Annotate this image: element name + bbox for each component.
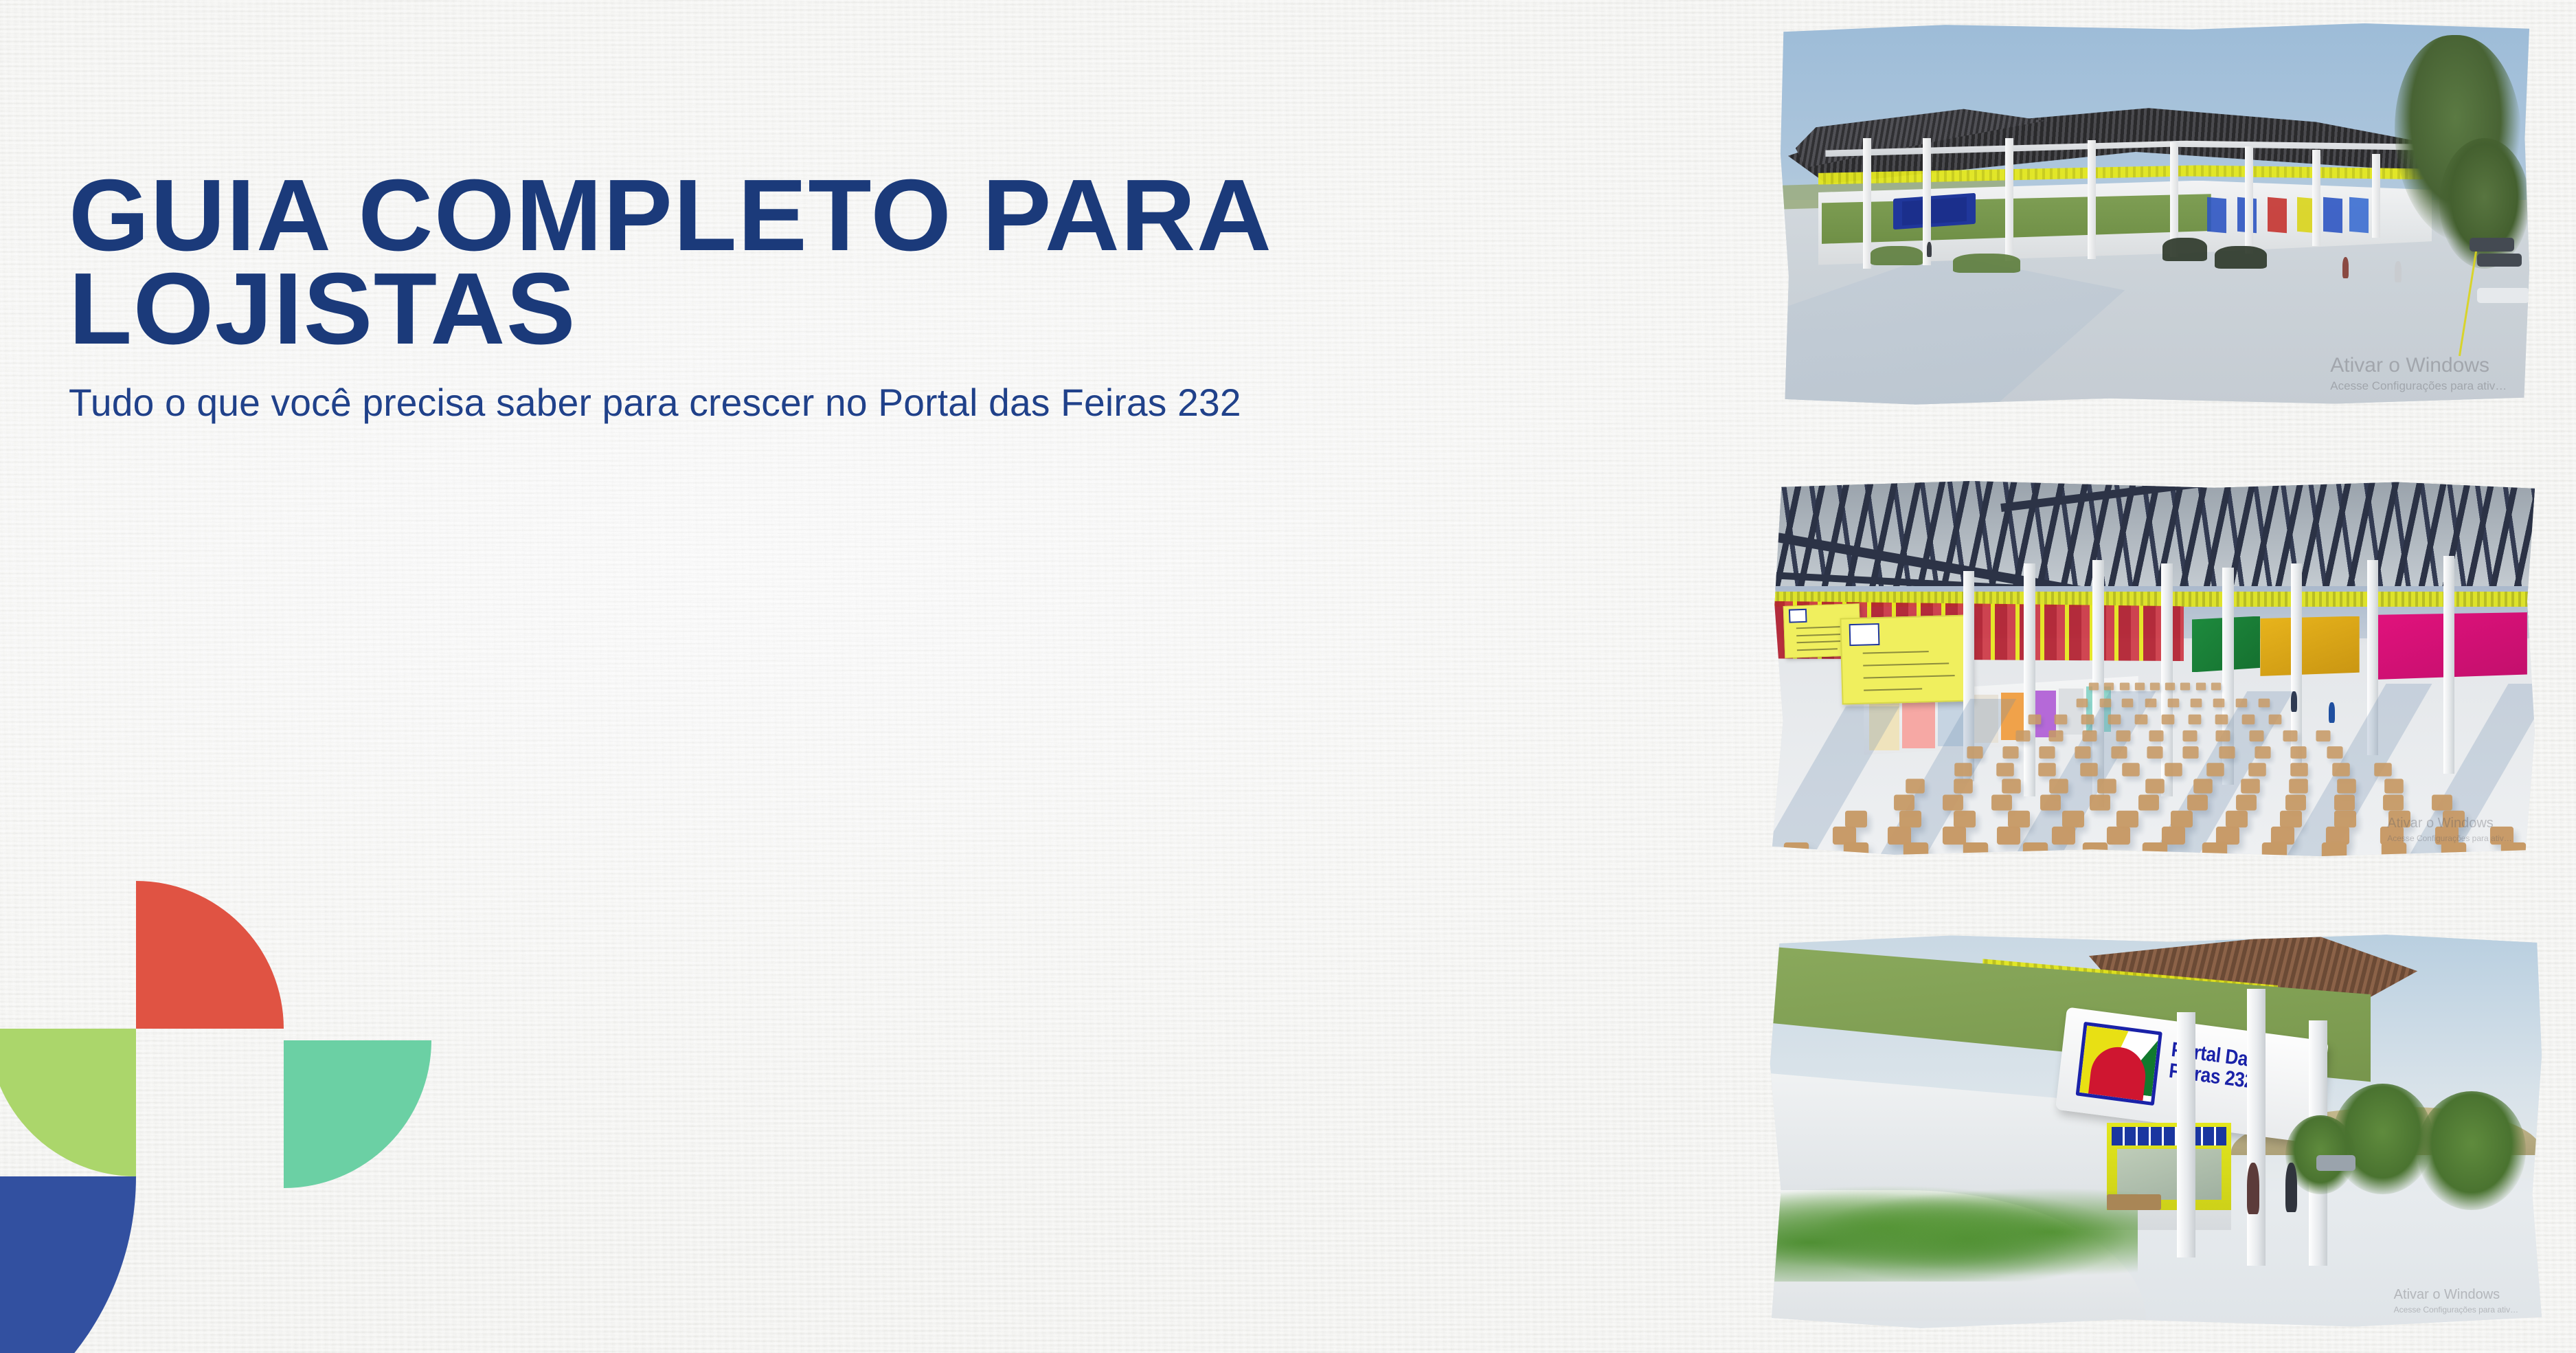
dining-table xyxy=(2283,730,2297,741)
brand-quarter-blue-icon xyxy=(0,1176,136,1353)
dining-table xyxy=(2052,826,2075,844)
dining-table xyxy=(2039,747,2055,759)
facade-column xyxy=(2005,138,2013,261)
dining-table xyxy=(1967,747,1982,759)
stall-banner xyxy=(2268,197,2287,234)
dining-table xyxy=(1833,826,1856,844)
dining-table xyxy=(2216,730,2230,741)
photo-exterior-aerial: Ativar o Windows Acesse Configurações pa… xyxy=(1781,23,2529,407)
dining-table xyxy=(2145,699,2156,708)
photo-entrance-scene: Portal DasFeiras 232 xyxy=(1765,933,2542,1329)
dining-table xyxy=(2077,699,2088,708)
facade-column xyxy=(2088,140,2096,259)
dining-table xyxy=(2083,730,2097,741)
dining-table xyxy=(2147,747,2162,759)
dining-table xyxy=(2441,842,2465,856)
dining-table xyxy=(2182,730,2197,741)
dining-table xyxy=(2235,699,2247,708)
dining-table xyxy=(1954,810,1976,827)
wayfinding-line xyxy=(1796,626,1843,629)
dining-table xyxy=(2213,699,2224,708)
dining-table xyxy=(2116,810,2138,827)
wayfinding-line xyxy=(1797,648,1838,651)
shrub-row xyxy=(2162,238,2207,260)
dining-table xyxy=(2149,730,2164,741)
dining-table xyxy=(2435,826,2459,844)
interior-column xyxy=(2443,556,2455,774)
visitor xyxy=(2285,1163,2297,1212)
dining-table xyxy=(2083,842,2108,856)
dining-table xyxy=(2145,779,2165,793)
dining-table xyxy=(2385,779,2404,793)
dining-table xyxy=(2162,826,2185,844)
headline-block: GUIA COMPLETO PARA LOJISTAS Tudo o que v… xyxy=(69,169,1669,426)
dining-table xyxy=(2165,683,2175,691)
dining-table xyxy=(2097,779,2116,793)
dining-table xyxy=(2291,747,2307,759)
dining-table xyxy=(1899,810,1921,827)
dining-table xyxy=(2119,683,2129,691)
dining-table xyxy=(1844,842,1868,856)
dining-table xyxy=(1997,763,2014,776)
dining-table xyxy=(2135,683,2145,691)
dining-table xyxy=(2216,826,2239,844)
interior-column xyxy=(2161,563,2173,796)
brand-quarter-mint-icon xyxy=(284,1040,431,1188)
dining-table xyxy=(2388,810,2410,827)
portal-logo-icon xyxy=(2076,1022,2162,1106)
dining-table xyxy=(2500,842,2525,856)
visitor xyxy=(2247,1163,2259,1214)
dining-table xyxy=(1963,842,1988,856)
dining-table xyxy=(2443,810,2465,827)
dining-table xyxy=(2258,699,2270,708)
dining-table xyxy=(2189,715,2202,724)
photo-exterior-scene xyxy=(1781,23,2529,407)
dining-table xyxy=(2187,794,2208,810)
dining-table xyxy=(2334,794,2355,810)
dining-table xyxy=(2028,715,2041,724)
wayfinding-line xyxy=(1797,640,1846,644)
dining-table xyxy=(2269,715,2282,724)
dining-table xyxy=(2289,779,2308,793)
dining-table xyxy=(2327,747,2342,759)
dining-table xyxy=(2143,842,2167,856)
dining-table xyxy=(2202,842,2227,856)
dining-table xyxy=(2285,794,2306,810)
dining-table xyxy=(2326,826,2349,844)
facade-column xyxy=(2177,1012,2195,1257)
visitor xyxy=(2291,691,2297,712)
dining-table xyxy=(2062,810,2084,827)
parked-car xyxy=(2477,254,2522,267)
dining-table xyxy=(2138,794,2159,810)
dining-table xyxy=(2015,730,2030,741)
dining-table xyxy=(1943,794,1963,810)
dining-table xyxy=(2107,826,2130,844)
stall-banner xyxy=(2349,197,2369,234)
dining-table xyxy=(2374,763,2391,776)
parked-car xyxy=(2316,1155,2355,1171)
dining-table xyxy=(2337,779,2356,793)
wayfinding-logo-icon xyxy=(1788,609,1807,623)
planter-bed xyxy=(1871,246,1923,265)
dining-table xyxy=(2242,715,2255,724)
photo-interior-foodcourt: Ativar o Windows Acesse Configurações pa… xyxy=(1772,481,2535,856)
dining-table xyxy=(2383,794,2404,810)
dining-table xyxy=(2316,730,2331,741)
dining-table xyxy=(2122,699,2134,708)
bench xyxy=(2107,1194,2161,1210)
dining-table xyxy=(2195,683,2205,691)
dining-table xyxy=(2135,715,2148,724)
dining-table xyxy=(2334,810,2356,827)
dining-table xyxy=(1906,779,1925,793)
dining-table xyxy=(2003,747,2019,759)
dining-table xyxy=(2432,794,2452,810)
pedestrian xyxy=(2342,257,2349,278)
dining-table xyxy=(2108,715,2121,724)
dining-table xyxy=(2075,747,2091,759)
dining-table xyxy=(2167,699,2179,708)
pedestrian xyxy=(1927,242,1932,257)
dining-table xyxy=(1845,810,1867,827)
dining-table xyxy=(2215,715,2228,724)
interior-column xyxy=(2024,563,2035,796)
dining-table xyxy=(2150,683,2160,691)
dining-table xyxy=(2271,826,2294,844)
visitor xyxy=(2329,702,2335,723)
facade-logo-sign xyxy=(1893,193,1976,230)
dining-table xyxy=(2219,747,2235,759)
dining-table xyxy=(2081,763,2098,776)
shrub-row xyxy=(2215,246,2267,269)
dining-table xyxy=(2123,763,2140,776)
dining-table xyxy=(1997,826,2020,844)
dining-table xyxy=(2008,810,2030,827)
brand-mark-pinwheel xyxy=(0,881,443,1353)
dining-table xyxy=(2171,810,2193,827)
dining-table xyxy=(2248,763,2266,776)
photo-interior-scene xyxy=(1772,481,2535,856)
facade-column xyxy=(2247,989,2266,1266)
facade-column xyxy=(2312,150,2320,246)
dining-table xyxy=(2236,794,2257,810)
dining-table xyxy=(2162,715,2175,724)
dining-table xyxy=(2023,842,2048,856)
dining-table xyxy=(2116,730,2130,741)
wayfinding-line-pier xyxy=(1862,650,1928,653)
stall-banner xyxy=(2323,197,2342,234)
planter-bed xyxy=(1953,254,2020,273)
dining-table xyxy=(2111,747,2127,759)
palm-plantings xyxy=(1765,1178,2138,1282)
dining-table xyxy=(2089,683,2099,691)
dining-table xyxy=(2055,715,2068,724)
dining-table xyxy=(2249,730,2263,741)
dining-table xyxy=(2290,763,2307,776)
photo-entrance-facade: Portal DasFeiras 232 Ativar o Windows Ac… xyxy=(1765,933,2542,1329)
counter-panel xyxy=(1902,700,1935,748)
parked-car xyxy=(2477,288,2529,303)
stall-banner xyxy=(2207,197,2226,234)
steel-truss-ceiling xyxy=(1772,481,2535,594)
pedestrian xyxy=(2395,261,2402,282)
wayfinding-line-banheiros xyxy=(1863,662,1950,666)
dining-table xyxy=(2332,763,2349,776)
facade-logo-inner xyxy=(1902,197,1967,225)
dining-table xyxy=(1991,794,2012,810)
dining-table xyxy=(1894,794,1914,810)
facade-column xyxy=(2372,154,2380,238)
dining-table xyxy=(2049,730,2064,741)
dining-table xyxy=(2280,810,2302,827)
tree xyxy=(2417,1091,2526,1210)
brand-quarter-green-icon xyxy=(0,1029,136,1176)
wayfinding-line-lojas xyxy=(1864,688,1922,691)
facade-column xyxy=(1863,138,1871,269)
slide-canvas: GUIA COMPLETO PARA LOJISTAS Tudo o que v… xyxy=(0,0,2576,1353)
page-title: GUIA COMPLETO PARA LOJISTAS xyxy=(69,169,1702,356)
dining-table xyxy=(2180,683,2190,691)
dining-table xyxy=(2165,763,2182,776)
dining-table xyxy=(2193,779,2213,793)
dining-table xyxy=(1943,826,1966,844)
dining-table xyxy=(2183,747,2199,759)
facade-column xyxy=(2245,146,2253,254)
dining-table xyxy=(2002,779,2021,793)
wayfinding-logo-icon xyxy=(1849,623,1880,646)
dining-table xyxy=(1955,763,1972,776)
dining-table xyxy=(2050,779,2069,793)
dining-table xyxy=(2104,683,2114,691)
dining-table xyxy=(1888,826,1911,844)
dining-table xyxy=(2090,794,2110,810)
dining-table xyxy=(1784,842,1809,856)
brand-quarter-red-icon xyxy=(136,881,284,1029)
dining-table xyxy=(2081,715,2094,724)
dining-table xyxy=(2262,842,2287,856)
dining-table xyxy=(2211,683,2221,691)
parked-car xyxy=(2470,238,2514,251)
wayfinding-line-praca xyxy=(1863,675,1954,678)
dining-table xyxy=(2099,699,2111,708)
counter-panel xyxy=(2059,689,2083,735)
dining-table xyxy=(2040,794,2061,810)
dining-table xyxy=(1903,842,1928,856)
dining-table xyxy=(2381,842,2406,856)
dining-table xyxy=(2255,747,2270,759)
entrance-banner-strip xyxy=(2112,1127,2226,1146)
dining-table xyxy=(2380,826,2404,844)
dining-table xyxy=(2206,763,2224,776)
dining-table xyxy=(2490,826,2513,844)
dining-table xyxy=(2039,763,2056,776)
wayfinding-sign-large xyxy=(1840,614,1971,704)
dining-table xyxy=(2322,842,2347,856)
dining-table xyxy=(2241,779,2261,793)
dining-table xyxy=(2190,699,2202,708)
dining-table xyxy=(2226,810,2248,827)
page-subtitle: Tudo o que você precisa saber para cresc… xyxy=(69,379,1645,425)
dining-table xyxy=(1954,779,1973,793)
stall-yellow xyxy=(2260,616,2359,676)
